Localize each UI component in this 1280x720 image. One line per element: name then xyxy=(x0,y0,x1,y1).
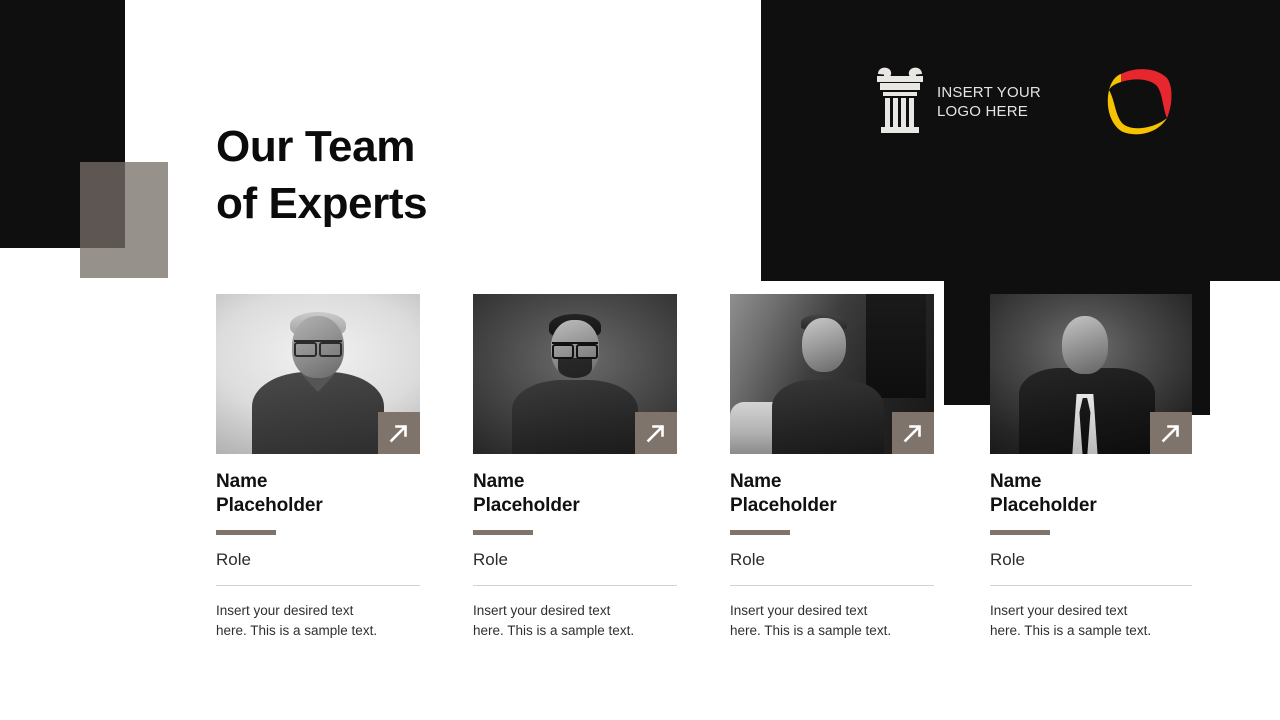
open-profile-arrow-button[interactable] xyxy=(635,412,677,454)
open-profile-arrow-button[interactable] xyxy=(892,412,934,454)
member-description: Insert your desired text here. This is a… xyxy=(990,601,1194,641)
decorative-gray-overlap xyxy=(80,162,125,248)
member-role: Role xyxy=(216,549,420,571)
slide-canvas: INSERT YOUR LOGO HERE Our Team of Expert… xyxy=(0,0,1280,720)
member-description: Insert your desired text here. This is a… xyxy=(730,601,934,641)
member-photo[interactable] xyxy=(730,294,934,454)
member-role: Role xyxy=(473,549,677,571)
member-name: Name Placeholder xyxy=(473,470,677,518)
member-name: Name Placeholder xyxy=(990,470,1194,518)
arrow-up-right-icon xyxy=(902,422,924,444)
logo-placeholder-text: INSERT YOUR LOGO HERE xyxy=(937,83,1041,121)
accent-bar xyxy=(730,530,790,535)
team-card[interactable]: Name Placeholder Role Insert your desire… xyxy=(730,294,934,641)
team-card[interactable]: Name Placeholder Role Insert your desire… xyxy=(990,294,1194,641)
member-photo[interactable] xyxy=(473,294,677,454)
card-divider xyxy=(990,585,1192,586)
card-divider xyxy=(730,585,934,586)
ionic-column-icon xyxy=(869,65,931,139)
accent-bar xyxy=(990,530,1050,535)
arrow-up-right-icon xyxy=(1160,422,1182,444)
member-description: Insert your desired text here. This is a… xyxy=(473,601,677,641)
member-description: Insert your desired text here. This is a… xyxy=(216,601,420,641)
member-name: Name Placeholder xyxy=(216,470,420,518)
accent-bar xyxy=(473,530,533,535)
member-role: Role xyxy=(990,549,1194,571)
arrow-up-right-icon xyxy=(388,422,410,444)
arrow-up-right-icon xyxy=(645,422,667,444)
logo-row: INSERT YOUR LOGO HERE xyxy=(869,62,1177,142)
card-divider xyxy=(216,585,420,586)
open-profile-arrow-button[interactable] xyxy=(1150,412,1192,454)
team-card[interactable]: Name Placeholder Role Insert your desire… xyxy=(473,294,677,641)
member-photo[interactable] xyxy=(990,294,1192,454)
open-profile-arrow-button[interactable] xyxy=(378,412,420,454)
red-yellow-ring-logo xyxy=(1041,62,1177,142)
member-photo[interactable] xyxy=(216,294,420,454)
member-role: Role xyxy=(730,549,934,571)
team-card[interactable]: Name Placeholder Role Insert your desire… xyxy=(216,294,420,641)
accent-bar xyxy=(216,530,276,535)
page-title: Our Team of Experts xyxy=(216,118,736,232)
card-divider xyxy=(473,585,677,586)
member-name: Name Placeholder xyxy=(730,470,934,518)
